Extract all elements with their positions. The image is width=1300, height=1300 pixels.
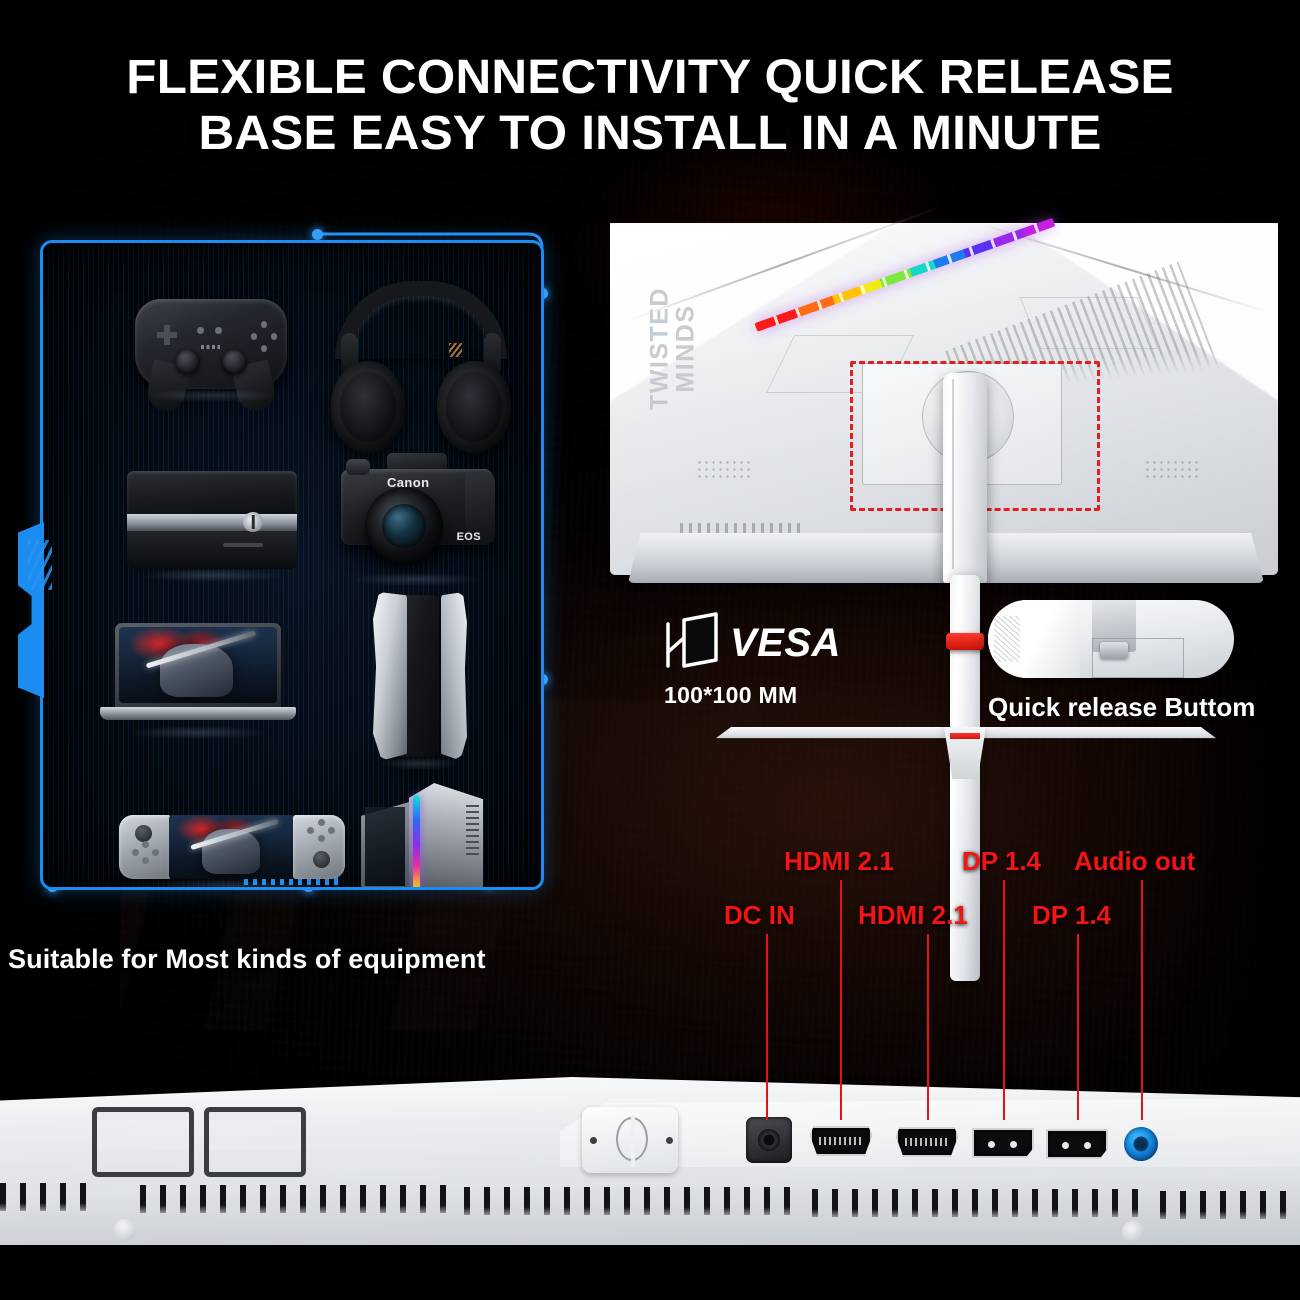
stand-accent-ring xyxy=(950,733,980,739)
page-title: FLEXIBLE CONNECTIVITY QUICK RELEASE BASE… xyxy=(0,50,1300,161)
vent-slits-3 xyxy=(464,1187,800,1215)
headline-line-2: BASE EASY TO INSTALL IN A MINUTE xyxy=(0,106,1300,162)
port-label-dp-2: DP 1.4 xyxy=(1032,900,1111,931)
leader-line-hdmi-2 xyxy=(927,934,929,1120)
leader-line-audio-out xyxy=(1141,880,1143,1120)
device-playstation-5 xyxy=(373,595,465,757)
collage-frame: Canon EOS xyxy=(40,240,544,890)
headline-line-1: FLEXIBLE CONNECTIVITY QUICK RELEASE xyxy=(0,50,1300,106)
vesa-size-label: 100*100 MM xyxy=(664,682,841,709)
monitor-chassis: TWISTED MINDS xyxy=(610,223,1278,575)
camera-brand-text: Canon xyxy=(387,475,429,490)
port-dp-1[interactable] xyxy=(972,1128,1034,1158)
osd-indicator-left xyxy=(590,1137,597,1144)
leader-line-dp-2 xyxy=(1077,934,1079,1120)
monitor-brand-logo: TWISTED MINDS xyxy=(648,264,699,434)
port-dp-2[interactable] xyxy=(1046,1129,1108,1159)
port-hdmi-1[interactable] xyxy=(810,1126,872,1156)
vent-slits-2 xyxy=(140,1185,456,1213)
stand-neck-upper xyxy=(943,373,987,583)
port-hdmi-2[interactable] xyxy=(896,1127,958,1157)
leader-line-hdmi-1 xyxy=(840,880,842,1120)
port-label-dp-1: DP 1.4 xyxy=(962,846,1041,877)
speaker-grille-right xyxy=(1144,459,1200,479)
device-headphones xyxy=(335,281,507,467)
port-label-audio-out: Audio out xyxy=(1074,846,1195,877)
leader-line-dc-in xyxy=(766,934,768,1120)
device-collage-panel: Canon EOS xyxy=(18,222,562,912)
quick-release-caption: Quick release Buttom xyxy=(988,692,1255,723)
leader-line-dp-1 xyxy=(1003,880,1005,1120)
vesa-mount-icon xyxy=(664,612,720,674)
vent-slits-5 xyxy=(1160,1191,1296,1219)
quick-release-latch xyxy=(1100,642,1128,659)
frame-hash-marks xyxy=(28,540,52,590)
port-callout-group: DC IN HDMI 2.1 HDMI 2.1 DP 1.4 DP 1.4 Au… xyxy=(0,838,1300,1128)
quick-release-callout: Quick release Buttom xyxy=(988,600,1255,723)
device-game-controller xyxy=(135,299,287,389)
port-label-hdmi-2: HDMI 2.1 xyxy=(858,900,968,931)
device-canon-camera: Canon EOS xyxy=(341,453,493,573)
vent-slits-4 xyxy=(812,1189,1150,1217)
speaker-grille-left xyxy=(696,459,752,479)
vesa-badge: VESA 100*100 MM xyxy=(664,612,841,709)
screw-hole-left xyxy=(114,1219,136,1241)
port-label-hdmi-1: HDMI 2.1 xyxy=(784,846,894,877)
port-audio-out[interactable] xyxy=(1124,1127,1158,1161)
camera-model-text: EOS xyxy=(457,531,481,543)
vesa-title: VESA xyxy=(730,621,841,666)
port-label-dc-in: DC IN xyxy=(724,900,795,931)
trace-dot-top xyxy=(312,229,323,240)
quick-release-photo-inset xyxy=(988,600,1234,678)
screw-hole-right xyxy=(1122,1221,1144,1243)
quick-release-ring xyxy=(946,633,984,650)
osd-indicator-right xyxy=(666,1137,673,1144)
vent-slits-1 xyxy=(0,1183,96,1211)
device-laptop xyxy=(115,623,281,723)
device-xbox-console xyxy=(127,471,297,569)
